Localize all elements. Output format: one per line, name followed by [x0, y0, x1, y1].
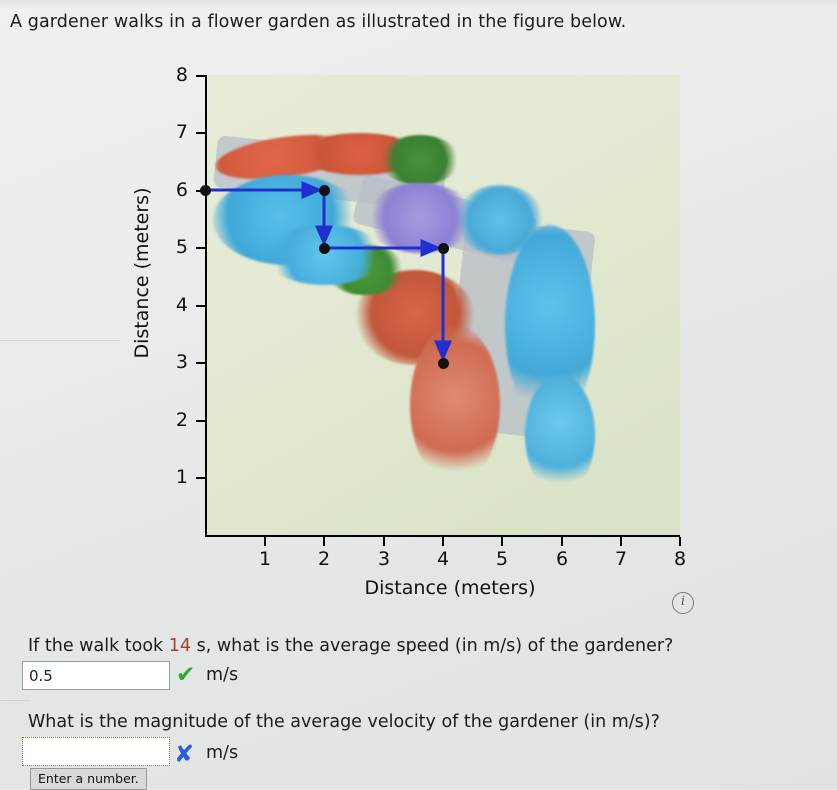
answer-1-value: 0.5	[23, 662, 169, 685]
path-point-end	[438, 358, 449, 369]
page-edge-line-left-1	[0, 340, 120, 341]
answer-2-input[interactable]	[22, 737, 170, 766]
correct-check-icon: ✔	[176, 662, 195, 688]
question-1-text: If the walk took 14 s, what is the avera…	[28, 636, 673, 656]
path-point-4	[438, 243, 449, 254]
question-1-after: s, what is the average speed (in m/s) of…	[197, 636, 674, 656]
question-prompt: A gardener walks in a flower garden as i…	[10, 12, 626, 32]
incorrect-cross-icon: ✘	[174, 740, 194, 768]
answer-1-input[interactable]: 0.5	[22, 661, 170, 690]
answer-2-unit: m/s	[206, 743, 238, 763]
path-point-start	[200, 185, 211, 196]
page-edge-line-left-2	[0, 700, 30, 701]
info-icon[interactable]: i	[672, 592, 694, 614]
gardener-path-overlay	[120, 62, 700, 622]
question-1-before: If the walk took	[28, 636, 163, 656]
question-1-value: 14	[169, 636, 191, 656]
enter-number-tooltip: Enter a number.	[30, 768, 147, 790]
question-2-text: What is the magnitude of the average vel…	[28, 712, 660, 732]
answer-1-unit: m/s	[206, 665, 238, 685]
top-strip	[0, 0, 837, 8]
path-point-3	[319, 243, 330, 254]
figure-container: 8 7 6 5 4 3 2 1 1 2 3 4 5 6 7 8 Distance…	[120, 62, 700, 622]
path-point-2	[319, 185, 330, 196]
